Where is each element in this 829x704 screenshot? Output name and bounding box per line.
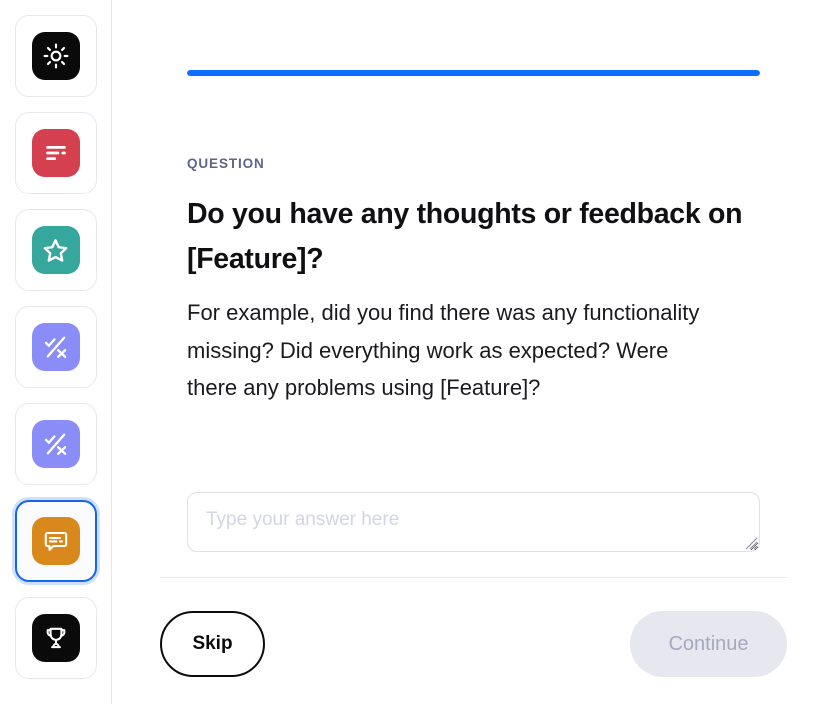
sidebar-item-check-cross-2[interactable] (15, 403, 97, 485)
check-cross-icon-tile (32, 420, 80, 468)
continue-button[interactable]: Continue (630, 611, 787, 677)
sidebar-item-trophy[interactable] (15, 597, 97, 679)
answer-field-wrapper (187, 492, 760, 552)
star-icon-tile (32, 226, 80, 274)
sidebar-item-sun[interactable] (15, 15, 97, 97)
answer-input[interactable] (187, 492, 760, 552)
question-eyebrow-label: QUESTION (187, 156, 265, 171)
trophy-icon-tile (32, 614, 80, 662)
sidebar-item-chat-bubble[interactable] (15, 500, 97, 582)
sun-icon-tile (32, 32, 80, 80)
survey-app: QUESTION Do you have any thoughts or fee… (0, 0, 829, 704)
question-panel: QUESTION Do you have any thoughts or fee… (112, 0, 829, 704)
check-cross-icon-tile (32, 323, 80, 371)
sidebar-item-text-lines[interactable] (15, 112, 97, 194)
sidebar (0, 0, 112, 704)
text-lines-icon-tile (32, 129, 80, 177)
page-title: Do you have any thoughts or feedback on … (187, 192, 769, 282)
progress-bar-track (187, 70, 760, 76)
chat-bubble-icon-tile (32, 517, 80, 565)
sidebar-item-check-cross-1[interactable] (15, 306, 97, 388)
question-description: For example, did you find there was any … (187, 294, 707, 407)
progress-bar-fill (187, 70, 760, 76)
skip-button[interactable]: Skip (160, 611, 265, 677)
footer-divider (160, 577, 787, 578)
sidebar-item-star[interactable] (15, 209, 97, 291)
